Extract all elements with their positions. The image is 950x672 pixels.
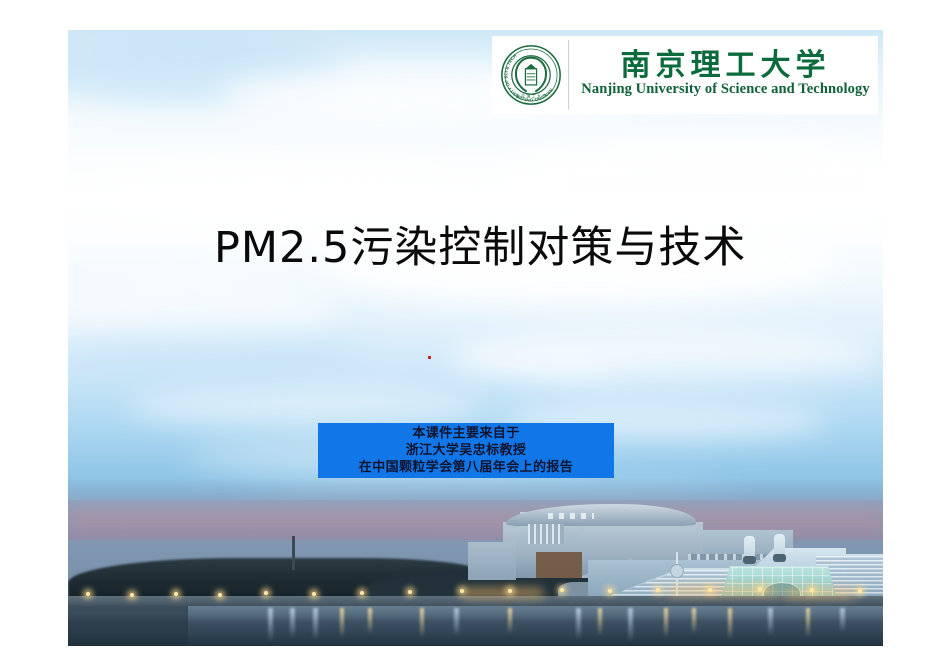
university-seal-icon: NANJING UNIVERSITY OF SCI & TECH 南 京 理 工… — [500, 44, 562, 106]
red-dot-mark — [428, 356, 431, 359]
street-lamp — [508, 589, 512, 593]
street-lamp — [460, 589, 464, 593]
background-photo — [68, 30, 883, 646]
water-reflection — [598, 608, 602, 636]
building-left-entrance — [536, 552, 582, 578]
water-reflection — [508, 608, 512, 634]
street-lamp — [858, 589, 862, 593]
water-shadow — [68, 606, 188, 646]
street-lamp — [608, 589, 612, 593]
water-reflection — [806, 608, 810, 638]
credit-line-3: 在中国颗粒学会第八届年会上的报告 — [359, 459, 573, 476]
street-lamp — [810, 588, 814, 592]
logo-chinese-name: 南京理工大学 — [621, 50, 831, 82]
water-reflection — [728, 608, 732, 640]
credit-line-2: 浙江大学吴忠标教授 — [406, 442, 527, 459]
svg-text:南 京 理 工 大 学: 南 京 理 工 大 学 — [516, 92, 546, 98]
credit-line-1: 本课件主要来自于 — [412, 425, 519, 442]
building-left-annex — [468, 542, 516, 580]
street-lamp — [708, 588, 712, 592]
water-reflection — [840, 608, 845, 632]
street-lamp — [656, 588, 660, 592]
street-lamp — [130, 593, 134, 597]
street-lamp — [360, 591, 364, 595]
street-lamp — [758, 587, 762, 591]
cloud-shadow — [588, 360, 883, 406]
presentation-slide: NANJING UNIVERSITY OF SCI & TECH 南 京 理 工… — [0, 0, 950, 672]
building-left-windows — [548, 513, 594, 519]
street-lamp — [408, 590, 412, 594]
building-right-stack-base — [773, 554, 786, 562]
water-reflection — [368, 608, 372, 634]
water-reflection — [628, 608, 633, 642]
university-logo-box: NANJING UNIVERSITY OF SCI & TECH 南 京 理 工… — [492, 36, 878, 114]
cloud-shadow — [68, 330, 368, 380]
street-lamp — [312, 592, 316, 596]
light-mast-lamp — [670, 564, 684, 578]
water-reflection — [692, 608, 696, 634]
water-reflection — [313, 608, 318, 640]
water-reflection — [420, 608, 424, 638]
street-lamp — [264, 591, 268, 595]
water-reflection — [454, 608, 459, 636]
logo-english-name: Nanjing University of Science and Techno… — [581, 82, 869, 98]
slide-title: PM2.5污染控制对策与技术 — [214, 224, 739, 273]
logo-divider — [568, 40, 569, 110]
street-lamp — [560, 588, 564, 592]
logo-text-block: 南京理工大学 Nanjing University of Science and… — [577, 50, 874, 100]
building-right-stack-base — [743, 556, 756, 564]
street-lamp — [174, 592, 178, 596]
water-reflection — [576, 608, 581, 640]
source-credit-box: 本课件主要来自于 浙江大学吴忠标教授 在中国颗粒学会第八届年会上的报告 — [318, 423, 614, 478]
building-left-fins — [528, 524, 564, 544]
cloud-streak — [128, 385, 488, 427]
water-reflection — [290, 608, 295, 638]
warm-light-glow — [784, 588, 854, 598]
warm-light-glow — [463, 588, 543, 598]
street-lamp — [218, 593, 222, 597]
street-lamp — [86, 592, 90, 596]
water-reflection — [768, 608, 773, 636]
radio-tower — [292, 536, 295, 570]
water-sheen — [68, 606, 883, 622]
water-reflection — [340, 608, 344, 638]
water-reflection — [664, 608, 668, 638]
water-reflection — [268, 608, 273, 642]
